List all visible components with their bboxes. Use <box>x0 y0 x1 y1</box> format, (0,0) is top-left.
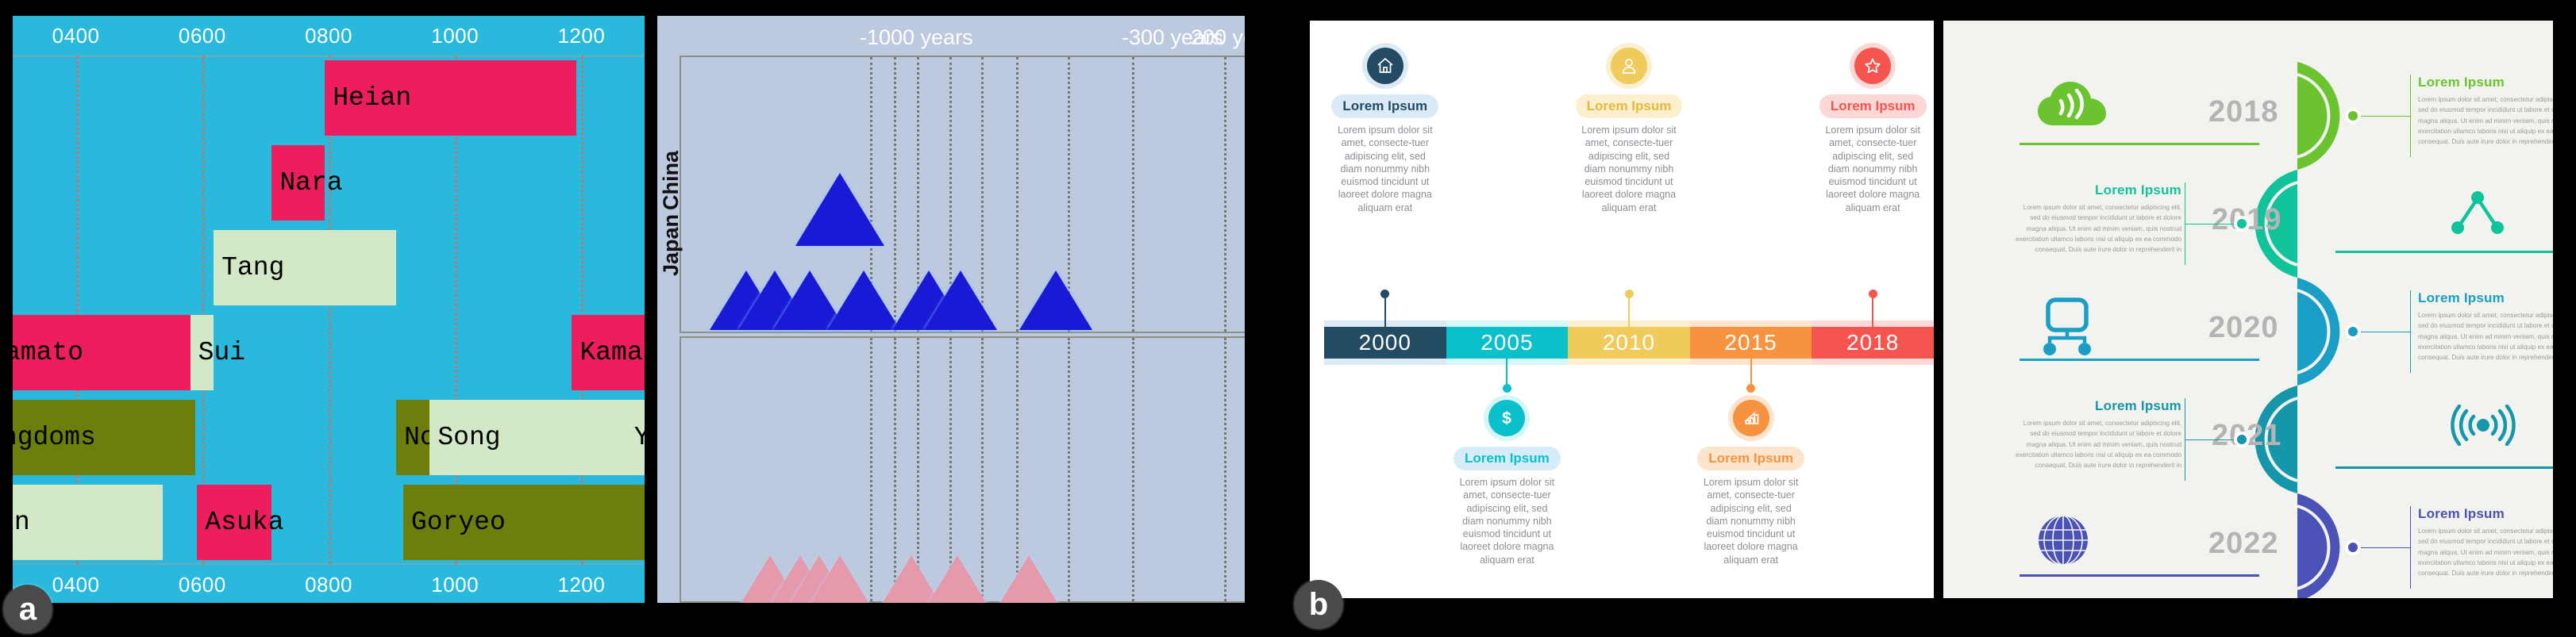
facet-china <box>680 56 1245 333</box>
timeline-stalk-2000 <box>1384 294 1386 327</box>
icon-halo: $ <box>1484 395 1530 441</box>
signal-icon <box>2445 405 2521 450</box>
panel-horizontal-timeline: 20002005201020152018Lorem IpsumLorem ips… <box>1310 21 1934 598</box>
scurve-node-core <box>2348 111 2358 121</box>
gantt-bar[interactable]: Song <box>429 400 631 475</box>
scurve-text-2019[interactable]: Lorem IpsumLorem ipsum dolor sit amet, c… <box>2015 182 2181 255</box>
timeline-year-label: 2018 <box>1846 330 1899 355</box>
scurve-body: Lorem ipsum dolor sit amet, consectetur … <box>2418 94 2553 147</box>
gantt-bar-label: Kingdoms <box>13 423 96 452</box>
triangle-axis-label: 200 years <box>1191 25 1245 50</box>
timeline-body-text: Lorem ipsum dolor sit amet, consecte-tue… <box>1813 124 1932 214</box>
gantt-bar[interactable]: Goryeo <box>403 485 645 560</box>
network-icon <box>2445 189 2510 242</box>
triangle-chart-axis-labels: -1000 years-300 years200 years <box>657 19 1245 54</box>
scurve-node-2018[interactable] <box>2345 108 2361 124</box>
triangle-marker-china[interactable] <box>1019 271 1092 330</box>
timeline-year-label: 2000 <box>1359 330 1411 355</box>
scurve-node-core <box>2348 327 2358 336</box>
timeline-node-2010[interactable]: Lorem IpsumLorem ipsum dolor sit amet, c… <box>1569 43 1688 214</box>
timeline-body-text: Lorem ipsum dolor sit amet, consecte-tue… <box>1692 476 1811 566</box>
panel-gantt-timeline: 04000600080010001200 HeianNaraTangYamato… <box>13 16 645 603</box>
scurve-text-2018[interactable]: Lorem IpsumLorem ipsum dolor sit amet, c… <box>2418 75 2553 147</box>
home-icon[interactable] <box>1367 48 1404 84</box>
scurve-heading: Lorem Ipsum <box>2418 75 2553 90</box>
timeline-stalk-2015 <box>1750 359 1752 387</box>
icon-halo <box>1728 395 1774 441</box>
timeline-segment-2018[interactable]: 2018 <box>1812 320 1934 365</box>
timeline-stalk-2005 <box>1506 359 1507 387</box>
scurve-node-2022[interactable] <box>2345 539 2361 555</box>
cloud-wifi-icon <box>2035 81 2108 134</box>
timeline-body-text: Lorem ipsum dolor sit amet, consecte-tue… <box>1326 124 1445 214</box>
gantt-tick-bottom: 1200 <box>557 573 605 597</box>
panel-badge-b: b <box>1294 580 1343 629</box>
gantt-bar-label: Goryeo <box>411 508 506 537</box>
panel-badge-a: a <box>3 585 52 634</box>
triangle-marker-japan[interactable] <box>808 555 872 603</box>
triangle-gridline <box>1132 57 1134 332</box>
scurve-node-2019[interactable] <box>2234 216 2250 232</box>
triangle-marker-china[interactable] <box>827 271 900 330</box>
gantt-bar[interactable]: Jin <box>13 485 163 560</box>
triangle-marker-japan[interactable] <box>926 555 989 603</box>
gantt-bar-label: Tang <box>221 253 284 282</box>
scurve-body: Lorem ipsum dolor sit amet, consectetur … <box>2418 310 2553 363</box>
icon-halo <box>1850 43 1896 89</box>
scurve-heading: Lorem Ipsum <box>2418 290 2553 306</box>
triangle-marker-japan[interactable] <box>997 555 1061 603</box>
scurve-connector-2020 <box>2361 332 2410 332</box>
scurve-heading: Lorem Ipsum <box>2015 398 2181 414</box>
scurve-text-2020[interactable]: Lorem IpsumLorem ipsum dolor sit amet, c… <box>2418 290 2553 363</box>
scurve-node-2021[interactable] <box>2234 432 2250 447</box>
scurve-text-2021[interactable]: Lorem IpsumLorem ipsum dolor sit amet, c… <box>2015 398 2181 470</box>
scurve-year-2022: 2022 <box>2208 527 2279 561</box>
timeline-dot-2018 <box>1869 290 1877 298</box>
scurve-body: Lorem ipsum dolor sit amet, consectetur … <box>2015 202 2181 255</box>
devices-icon <box>2035 297 2099 361</box>
gantt-bar-label: Yuan <box>634 423 645 452</box>
gantt-tick-bottom: 1000 <box>431 573 479 597</box>
scurve-connector-2022 <box>2361 547 2410 548</box>
scurve-underline <box>2020 143 2259 145</box>
globe-icon <box>2035 512 2091 572</box>
gantt-bar-label: Asuka <box>205 508 283 537</box>
gantt-bar-label: Sui <box>198 338 245 367</box>
scurve-underline <box>2335 466 2553 469</box>
scurve-text-rule <box>2410 290 2411 373</box>
icon-halo <box>1606 43 1652 89</box>
bar-chart-icon[interactable] <box>1733 400 1769 436</box>
scurve-text-rule <box>2185 398 2185 481</box>
scurve-text-rule <box>2410 506 2411 589</box>
scurve-node-2020[interactable] <box>2345 324 2361 340</box>
timeline-dot-2005 <box>1503 384 1511 393</box>
scurve-connector-2021 <box>2185 439 2234 440</box>
triangle-gridline <box>1132 338 1134 601</box>
gantt-bar[interactable]: Asuka <box>197 485 271 560</box>
timeline-dot-2015 <box>1746 384 1755 393</box>
timeline-node-2015[interactable]: Lorem IpsumLorem ipsum dolor sit amet, c… <box>1692 395 1811 566</box>
scurve-underline <box>2020 574 2259 577</box>
gantt-bar-label: Song <box>437 423 500 452</box>
timeline-stalk-2018 <box>1872 294 1873 327</box>
scurve-year-2020: 2020 <box>2208 311 2279 345</box>
screenshot-stage: 04000600080010001200 HeianNaraTangYamato… <box>0 0 2576 637</box>
gantt-tick-top: 0800 <box>305 24 352 48</box>
gantt-tick-top: 0600 <box>179 24 226 48</box>
gantt-bar[interactable]: Yamato <box>13 315 197 390</box>
scurve-heading: Lorem Ipsum <box>2015 182 2181 198</box>
scurve-underline <box>2335 251 2553 253</box>
triangle-axis-label: -1000 years <box>860 25 973 50</box>
panel-scurve-timeline: 2018Lorem IpsumLorem ipsum dolor sit ame… <box>1943 21 2553 598</box>
dollar-icon[interactable]: $ <box>1488 400 1525 436</box>
gantt-bar-label: Jin <box>13 508 30 537</box>
scurve-text-rule <box>2185 182 2185 265</box>
icon-halo <box>1362 43 1408 89</box>
facet-label-china: China <box>659 151 683 210</box>
facet-label-japan: Japan <box>659 214 683 276</box>
scurve-year-2018: 2018 <box>2208 95 2279 129</box>
gantt-bar-label: Nara <box>279 168 342 198</box>
gantt-axis-top: 04000600080010001200 <box>13 19 645 51</box>
gantt-bar[interactable]: Yuan <box>626 400 645 475</box>
triangle-gridline <box>1068 338 1070 601</box>
gantt-tick-top: 1200 <box>557 24 605 48</box>
facet-japan <box>680 336 1245 603</box>
timeline-node-2018[interactable]: Lorem IpsumLorem ipsum dolor sit amet, c… <box>1813 43 1932 214</box>
timeline-pill-label: Lorem Ipsum <box>1454 447 1561 470</box>
timeline-node-2005[interactable]: $Lorem IpsumLorem ipsum dolor sit amet, … <box>1447 395 1566 566</box>
gantt-bar[interactable]: Tang <box>214 230 396 305</box>
timeline-year-label: 2005 <box>1481 330 1533 355</box>
gantt-axis-bottom: 04000600080010001200 <box>13 570 645 601</box>
timeline-year-label: 2015 <box>1724 330 1777 355</box>
panel-triangle-chart: -1000 years-300 years200 years ChinaJapa… <box>657 16 1245 603</box>
scurve-heading: Lorem Ipsum <box>2418 506 2553 522</box>
gantt-bar-label: Yamato <box>13 338 83 367</box>
timeline-year-label: 2010 <box>1603 330 1655 355</box>
timeline-body-text: Lorem ipsum dolor sit amet, consecte-tue… <box>1447 476 1566 566</box>
timeline-segment-2000[interactable]: 2000 <box>1324 320 1446 365</box>
triangle-marker-china[interactable] <box>795 173 884 246</box>
triangle-gridline <box>1224 57 1226 332</box>
gantt-bar[interactable]: Sui <box>191 315 214 390</box>
timeline-body-text: Lorem ipsum dolor sit amet, consecte-tue… <box>1569 124 1688 214</box>
scurve-text-2022[interactable]: Lorem IpsumLorem ipsum dolor sit amet, c… <box>2418 506 2553 578</box>
scurve-underline <box>2020 359 2259 361</box>
triangle-gridline <box>1224 338 1226 601</box>
timeline-node-2000[interactable]: Lorem IpsumLorem ipsum dolor sit amet, c… <box>1326 43 1445 214</box>
gantt-bar-label: Kamakura <box>580 338 645 367</box>
scurve-node-core <box>2348 543 2358 552</box>
scurve-body: Lorem ipsum dolor sit amet, consectetur … <box>2015 418 2181 470</box>
scurve-node-core <box>2237 435 2247 444</box>
scurve-body: Lorem ipsum dolor sit amet, consectetur … <box>2418 526 2553 578</box>
triangle-gridline <box>1016 57 1018 332</box>
gantt-bar[interactable]: Nara <box>271 145 325 221</box>
scurve-connector-2019 <box>2185 224 2234 224</box>
timeline-pill-label: Lorem Ipsum <box>1576 94 1683 118</box>
timeline-dot-2010 <box>1625 290 1634 298</box>
timeline-pill-label: Lorem Ipsum <box>1331 94 1438 118</box>
timeline-strip: 20002005201020152018 <box>1324 320 1934 365</box>
star-icon[interactable] <box>1854 48 1891 84</box>
gantt-plot-area: HeianNaraTangYamatoSuiKamakuraKingdomsNo… <box>13 56 645 565</box>
scurve-node-core <box>2237 219 2247 228</box>
gantt-bar[interactable]: Kingdoms <box>13 400 195 475</box>
gantt-bar-label: Heian <box>333 83 411 113</box>
timeline-dot-2000 <box>1380 290 1389 298</box>
gantt-tick-top: 0400 <box>52 24 100 48</box>
gantt-bar[interactable]: Kamakura <box>572 315 645 390</box>
timeline-pill-label: Lorem Ipsum <box>1819 94 1927 118</box>
gantt-tick-bottom: 0800 <box>305 573 352 597</box>
timeline-pill-label: Lorem Ipsum <box>1697 447 1804 470</box>
gantt-tick-top: 1000 <box>431 24 479 48</box>
scurve-connector-2018 <box>2361 116 2410 117</box>
gantt-tick-bottom: 0400 <box>52 573 100 597</box>
gantt-tick-bottom: 0600 <box>179 573 226 597</box>
svg-text:$: $ <box>1503 409 1512 428</box>
user-icon[interactable] <box>1611 48 1647 84</box>
gantt-bar[interactable]: Heian <box>325 60 576 136</box>
triangle-marker-china[interactable] <box>924 271 997 330</box>
timeline-stalk-2010 <box>1628 294 1630 327</box>
scurve-text-rule <box>2410 75 2411 157</box>
timeline-segment-2010[interactable]: 2010 <box>1568 320 1690 365</box>
